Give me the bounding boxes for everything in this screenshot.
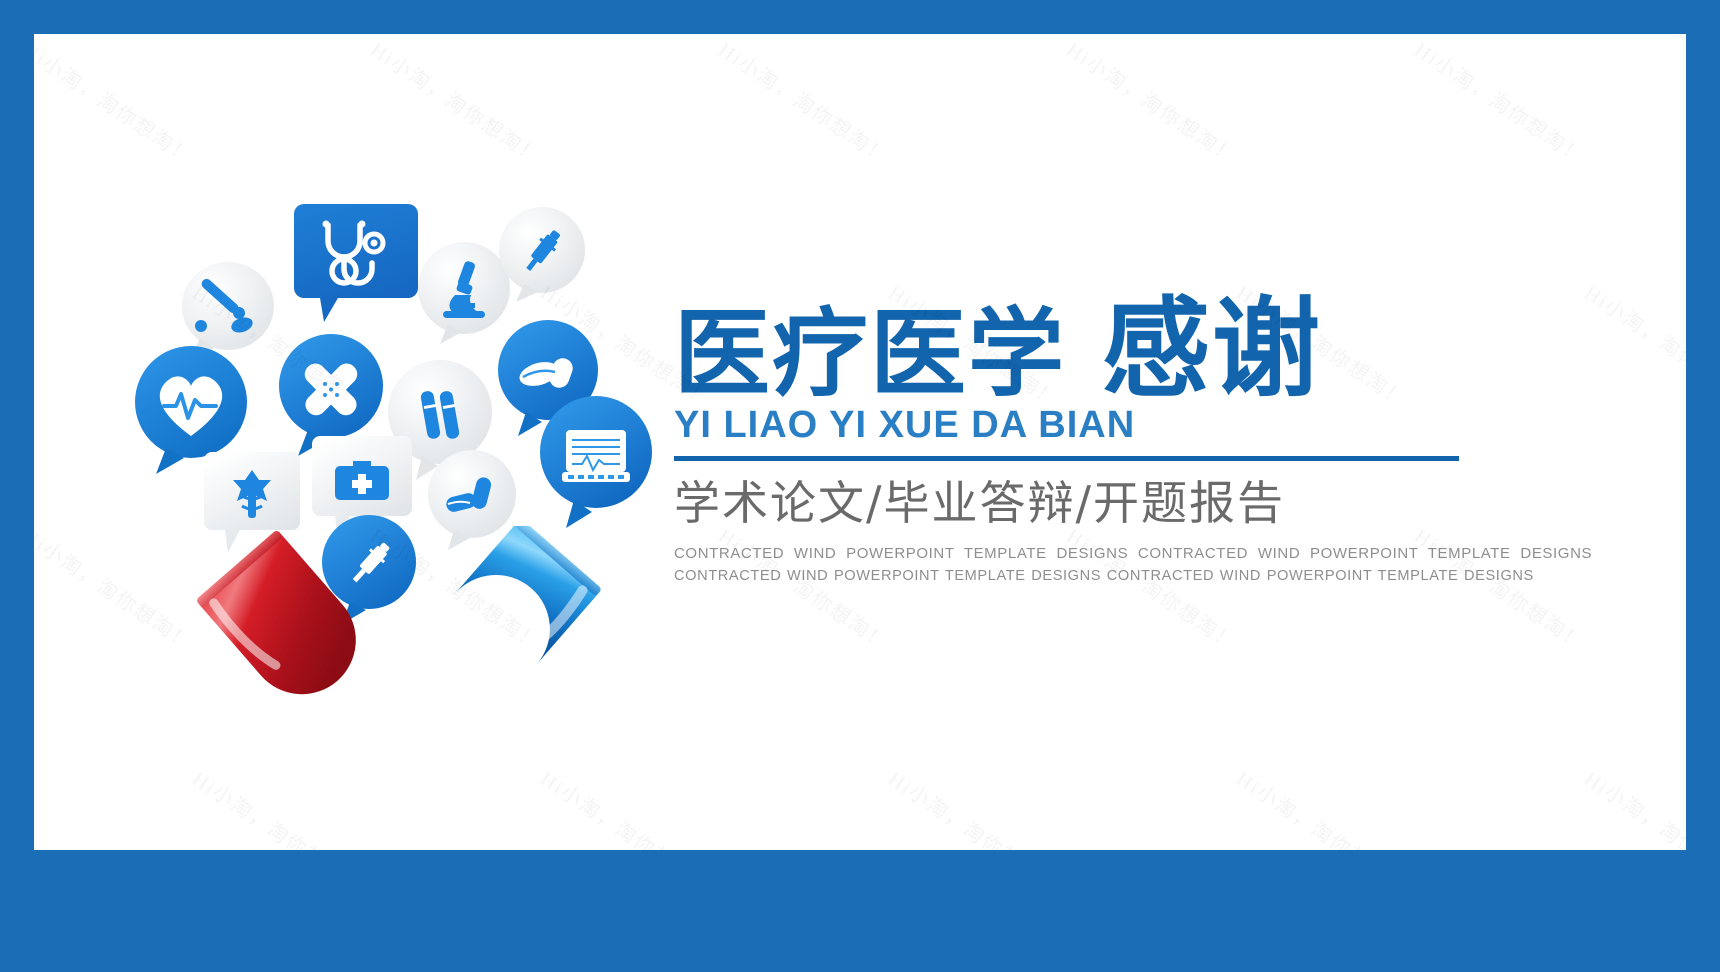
watermark-text: Hi小淘，淘你想淘！ [1232, 763, 1414, 850]
monitor-bubble[interactable] [532, 396, 660, 528]
subtitle-text: 学术论文/毕业答辩/开题报告 [674, 477, 1504, 529]
caption-line-2: CONTRACTED WIND POWERPOINT TEMPLATE DESI… [674, 565, 1474, 587]
watermark-text: Hi小淘，淘你想淘！ [34, 34, 200, 170]
watermark-text: Hi小淘，淘你想淘！ [1410, 34, 1592, 170]
watermark-text: Hi小淘，淘你想淘！ [884, 763, 1066, 850]
headline-block: 医疗医学 感谢 YI LIAO YI XUE DA BIAN 学术论文/毕业答辩… [674, 284, 1504, 587]
watermark-text: Hi小淘，淘你想淘！ [188, 763, 370, 850]
thanks-title: 感谢 [1102, 298, 1322, 402]
watermark-text: Hi小淘，淘你想淘！ [366, 34, 548, 170]
watermark-text: Hi小淘，淘你想淘！ [1580, 763, 1686, 850]
stethoscope-icon [294, 204, 418, 322]
syringe-bubble[interactable] [494, 206, 590, 302]
ecg-monitor-icon [532, 396, 660, 528]
syringe-icon [494, 206, 590, 302]
slide-border-frame: 医疗医学 感谢 YI LIAO YI XUE DA BIAN 学术论文/毕业答辩… [0, 0, 1720, 972]
caption-block: CONTRACTED WIND POWERPOINT TEMPLATE DESI… [674, 543, 1474, 587]
caption-line-1: CONTRACTED WIND POWERPOINT TEMPLATE DESI… [674, 543, 1474, 565]
watermark-text: Hi小淘，淘你想淘！ [714, 34, 896, 170]
watermark-text: Hi小淘，淘你想淘！ [1062, 34, 1244, 170]
title-divider [674, 456, 1459, 461]
slide-canvas: 医疗医学 感谢 YI LIAO YI XUE DA BIAN 学术论文/毕业答辩… [34, 34, 1686, 850]
stethoscope-bubble[interactable] [294, 204, 418, 322]
pinyin-subtitle: YI LIAO YI XUE DA BIAN [674, 404, 1504, 446]
medical-icon-cluster [94, 184, 654, 744]
watermark-text: Hi小淘，淘你想淘！ [536, 763, 718, 850]
watermark-text: Hi小淘，淘你想淘！ [1580, 277, 1686, 413]
capsule-blue-half [382, 526, 632, 746]
page-title: 医疗医学 [674, 306, 1066, 402]
headline-row: 医疗医学 感谢 [674, 284, 1504, 402]
